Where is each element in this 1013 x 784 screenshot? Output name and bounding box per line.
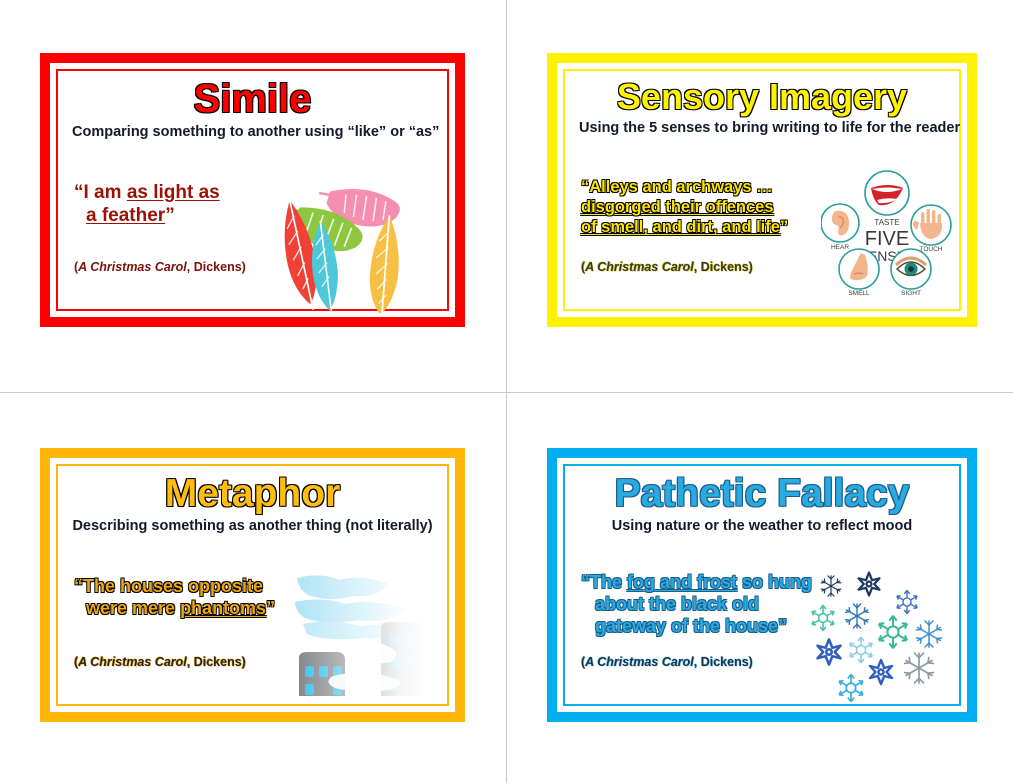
card-simile[interactable]: Simile Comparing something to another us…: [40, 53, 465, 327]
attribution-source: A Christmas Carol: [585, 655, 694, 669]
label-taste: TASTE: [874, 218, 899, 227]
quote-close-mark: ”: [778, 616, 787, 636]
attribution-text: (A Christmas Carol, Dickens): [74, 261, 246, 275]
quote-line1-underlined: as light as: [127, 182, 220, 203]
snowflake: [850, 637, 873, 663]
card-content: “The houses opposite were mere phantoms”…: [72, 562, 437, 696]
label-hear: HEAR: [831, 244, 849, 251]
quote-line1-plain: The: [590, 572, 627, 592]
quote-text: “Alleys and archways … disgorged their o…: [581, 177, 840, 237]
quote-line2-plain: about the black old: [581, 594, 759, 614]
quote-line2-plain: were mere: [86, 598, 180, 618]
card-body: Sensory Imagery Using the 5 senses to br…: [565, 71, 959, 309]
foggy-city-illustration: [293, 572, 431, 703]
card-pathetic-fallacy[interactable]: Pathetic Fallacy Using nature or the wea…: [547, 448, 977, 722]
label-sight: SIGHT: [901, 290, 921, 297]
quote-line3-plain: gateway of the house: [595, 616, 778, 636]
quote-line1-tail: so hung: [737, 572, 812, 592]
card-inner-border: Pathetic Fallacy Using nature or the wea…: [563, 464, 961, 706]
quote-line2-underlined: disgorged their offences: [581, 198, 774, 216]
snowflakes-icon: [807, 568, 947, 718]
grid-cell-top-left: Simile Comparing something to another us…: [0, 0, 506, 392]
snowflake: [821, 576, 841, 596]
attribution-source: A Christmas Carol: [78, 260, 187, 274]
attribution-source: A Christmas Carol: [585, 260, 694, 274]
attribution-author: , Dickens): [187, 655, 246, 669]
five-senses-illustration: TASTE FIVE SENSES: [821, 167, 953, 312]
card-title: Sensory Imagery: [579, 79, 945, 116]
quote-close-mark: ”: [780, 218, 788, 236]
attribution-block: (A Christmas Carol, Dickens): [581, 261, 753, 275]
snowflake: [905, 653, 934, 683]
quote-line1-plain: The houses opposite: [83, 576, 263, 596]
quote-line2-underlined: a feather: [86, 205, 165, 226]
quote-block: “The houses opposite were mere phantoms”: [74, 576, 300, 620]
feathers-illustration: [267, 173, 437, 318]
card-sensory-imagery[interactable]: Sensory Imagery Using the 5 senses to br…: [547, 53, 977, 327]
card-body: Simile Comparing something to another us…: [58, 71, 447, 309]
attribution-author: , Dickens): [694, 260, 753, 274]
quote-line1-plain: Alleys and archways …: [589, 178, 772, 196]
card-metaphor[interactable]: Metaphor Describing something as another…: [40, 448, 465, 722]
quote-close-mark: ”: [266, 598, 275, 618]
quote-close-mark: ”: [165, 205, 175, 226]
quote-line1-underlined: fog and frost: [627, 572, 737, 592]
label-touch: TOUCH: [920, 246, 943, 253]
attribution-author: , Dickens): [187, 260, 246, 274]
card-title: Simile: [72, 79, 433, 120]
quote-open-mark: “: [74, 576, 83, 596]
snowflake: [870, 660, 892, 684]
card-subtitle: Using nature or the weather to reflect m…: [579, 518, 945, 535]
center-label-five: FIVE: [865, 228, 909, 250]
snowflake: [879, 616, 907, 649]
card-subtitle: Comparing something to another using “li…: [72, 124, 433, 141]
attribution-text: (A Christmas Carol, Dickens): [581, 261, 753, 275]
poster-sheet: Simile Comparing something to another us…: [0, 0, 1013, 783]
card-inner-border: Sensory Imagery Using the 5 senses to br…: [563, 69, 961, 311]
attribution-author: , Dickens): [694, 655, 753, 669]
fog-city-icon: [293, 572, 431, 698]
quote-text: “The houses opposite were mere phantoms”: [74, 576, 300, 620]
quote-line3-underlined: of smell, and dirt, and life: [581, 218, 780, 236]
card-title: Metaphor: [72, 474, 433, 514]
card-content: “The fog and frost so hung about the bla…: [579, 558, 949, 696]
quote-text: “The fog and frost so hung about the bla…: [581, 572, 825, 638]
card-title: Pathetic Fallacy: [579, 474, 945, 514]
attribution-text: (A Christmas Carol, Dickens): [74, 656, 246, 670]
grid-cell-bottom-right: Pathetic Fallacy Using nature or the wea…: [507, 393, 1013, 784]
card-body: Pathetic Fallacy Using nature or the wea…: [565, 466, 959, 704]
attribution-block: (A Christmas Carol, Dickens): [74, 656, 246, 670]
feathers-icon: [267, 173, 437, 313]
snowflake: [839, 674, 863, 701]
five-senses-icon: TASTE FIVE SENSES: [821, 167, 953, 307]
quote-block: “Alleys and archways … disgorged their o…: [581, 177, 840, 237]
attribution-text: (A Christmas Carol, Dickens): [581, 656, 753, 670]
snowflakes-illustration: [807, 568, 947, 723]
snowflake: [897, 590, 917, 613]
quote-open-mark: “: [581, 572, 590, 592]
snowflake: [917, 621, 942, 647]
card-inner-border: Simile Comparing something to another us…: [56, 69, 449, 311]
attribution-block: (A Christmas Carol, Dickens): [74, 261, 246, 275]
card-subtitle: Using the 5 senses to bring writing to l…: [579, 120, 945, 137]
quote-open-mark: “: [581, 178, 589, 196]
card-inner-border: Metaphor Describing something as another…: [56, 464, 449, 706]
quote-line1-plain: I am: [84, 182, 127, 203]
attribution-source: A Christmas Carol: [78, 655, 187, 669]
card-content: “Alleys and archways … disgorged their o…: [579, 167, 949, 301]
quote-open-mark: “: [74, 182, 84, 203]
quote-block: “The fog and frost so hung about the bla…: [581, 572, 825, 638]
snowflake: [846, 604, 869, 628]
card-body: Metaphor Describing something as another…: [58, 466, 447, 704]
grid-cell-top-right: Sensory Imagery Using the 5 senses to br…: [507, 0, 1013, 392]
card-content: “I am as light as a feather” (A Christma…: [72, 167, 437, 301]
snowflake: [812, 605, 834, 630]
quote-line2-underlined: phantoms: [180, 598, 266, 618]
card-subtitle: Describing something as another thing (n…: [72, 518, 433, 535]
attribution-block: (A Christmas Carol, Dickens): [581, 656, 753, 670]
snowflake: [859, 573, 880, 596]
grid-cell-bottom-left: Metaphor Describing something as another…: [0, 393, 506, 784]
label-smell: SMELL: [848, 290, 870, 297]
snowflake: [817, 639, 840, 664]
